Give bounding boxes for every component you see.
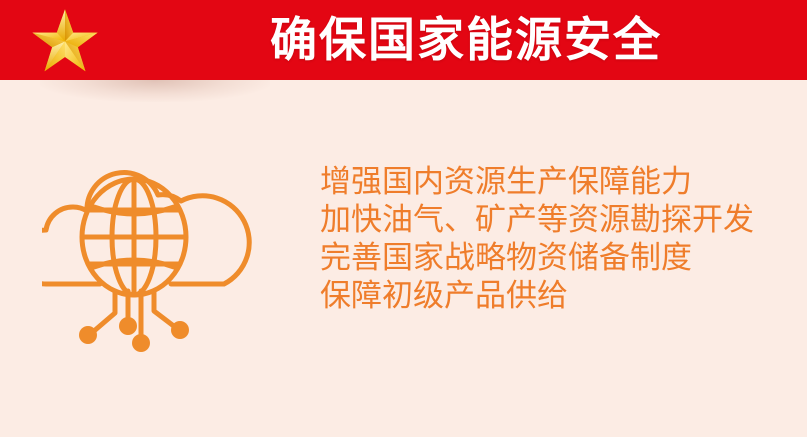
slogan-line-2: 加快油气、矿产等资源勘探开发 bbox=[320, 201, 790, 239]
banner-title: 确保国家能源安全 bbox=[270, 7, 690, 73]
slogan-line-4: 保障初级产品供给 bbox=[320, 277, 790, 315]
cloud-globe-circuit-icon bbox=[42, 155, 272, 360]
gold-five-pointed-star-icon bbox=[28, 8, 102, 74]
slogan-line-3: 完善国家战略物资储备制度 bbox=[320, 239, 790, 277]
content-area: 增强国内资源生产保障能力 加快油气、矿产等资源勘探开发 完善国家战略物资储备制度… bbox=[0, 80, 807, 437]
slogan-line-1: 增强国内资源生产保障能力 bbox=[320, 163, 790, 201]
poster-canvas: 确保国家能源安全 bbox=[0, 0, 807, 437]
slogan-text-block: 增强国内资源生产保障能力 加快油气、矿产等资源勘探开发 完善国家战略物资储备制度… bbox=[320, 163, 790, 315]
